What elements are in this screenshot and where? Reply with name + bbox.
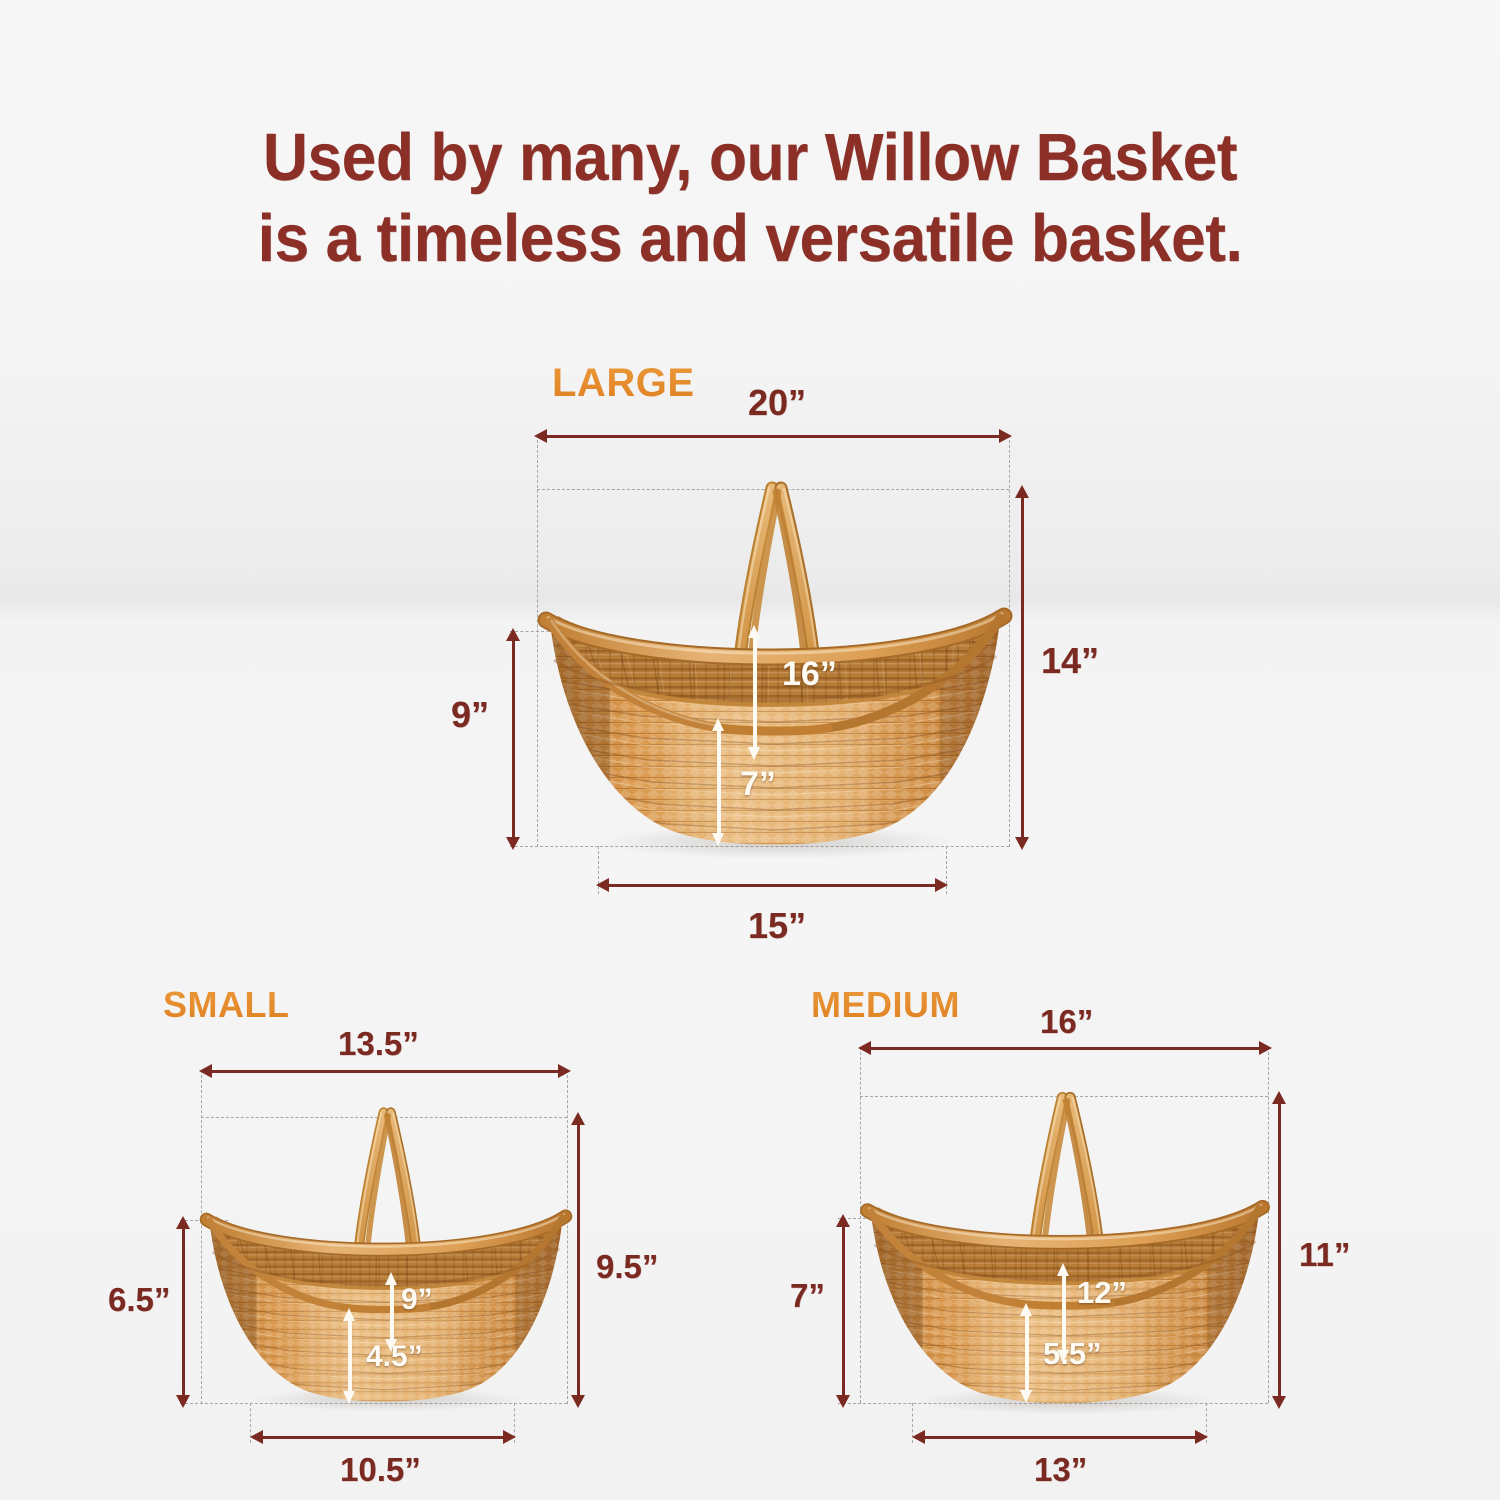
dimension-label-large-overall-height: 14” (1041, 640, 1099, 682)
dimension-label-medium-overall-height: 11” (1299, 1236, 1350, 1274)
dimension-label-medium-base-width: 13” (1034, 1451, 1087, 1489)
dimension-label-large-overall-width: 20” (748, 382, 806, 424)
dimension-label-medium-handle-height: 12” (1077, 1275, 1127, 1311)
dimension-label-small-overall-width: 13.5” (338, 1025, 419, 1063)
dimension-arrow-large-handle-height (748, 625, 761, 760)
dimension-label-small-body-height: 6.5” (108, 1281, 170, 1319)
dimension-label-large-base-width: 15” (748, 905, 806, 947)
dimension-arrow-large-base-width (596, 878, 948, 892)
dimension-arrow-small-overall-width (199, 1064, 571, 1078)
dimension-label-large-handle-height: 16” (782, 655, 837, 694)
dimension-arrow-large-body-height (506, 628, 520, 850)
dimension-label-small-base-width: 10.5” (340, 1451, 421, 1489)
page-title: Used by many, our Willow Basket is a tim… (53, 124, 1448, 272)
dimension-label-medium-body-height: 7” (790, 1277, 825, 1315)
dimension-label-medium-inner-depth: 5.5” (1043, 1336, 1102, 1372)
dimension-arrow-small-base-width (250, 1430, 516, 1444)
dimension-label-small-overall-height: 9.5” (596, 1248, 658, 1286)
dimension-arrow-medium-body-height (836, 1214, 850, 1408)
product-infographic: Used by many, our Willow Basket is a tim… (0, 0, 1500, 1500)
dimension-label-small-handle-height: 9” (401, 1283, 433, 1317)
size-label-large: LARGE (552, 361, 695, 406)
headline-line-1: Used by many, our Willow Basket (263, 120, 1237, 195)
dimension-arrow-medium-overall-height (1272, 1091, 1286, 1409)
size-label-medium: MEDIUM (811, 984, 960, 1026)
dimension-arrow-large-overall-height (1015, 485, 1029, 850)
dimension-arrow-small-overall-height (571, 1112, 585, 1408)
headline-line-2: is a timeless and versatile basket. (53, 205, 1448, 272)
dimension-arrow-medium-inner-depth (1020, 1303, 1033, 1403)
dimension-arrow-large-inner-depth (712, 718, 725, 846)
dimension-label-large-body-height: 9” (451, 694, 489, 736)
dimension-arrow-small-inner-depth (343, 1308, 356, 1404)
dimension-arrow-medium-overall-width (858, 1041, 1272, 1055)
dimension-label-small-inner-depth: 4.5” (366, 1340, 423, 1374)
dimension-arrow-medium-base-width (912, 1430, 1208, 1444)
dimension-label-large-inner-depth: 7” (740, 765, 776, 804)
dimension-arrow-small-body-height (176, 1216, 190, 1408)
dimension-arrow-large-overall-width (534, 429, 1012, 443)
size-label-small: SMALL (163, 984, 289, 1026)
dimension-label-medium-overall-width: 16” (1040, 1003, 1093, 1041)
